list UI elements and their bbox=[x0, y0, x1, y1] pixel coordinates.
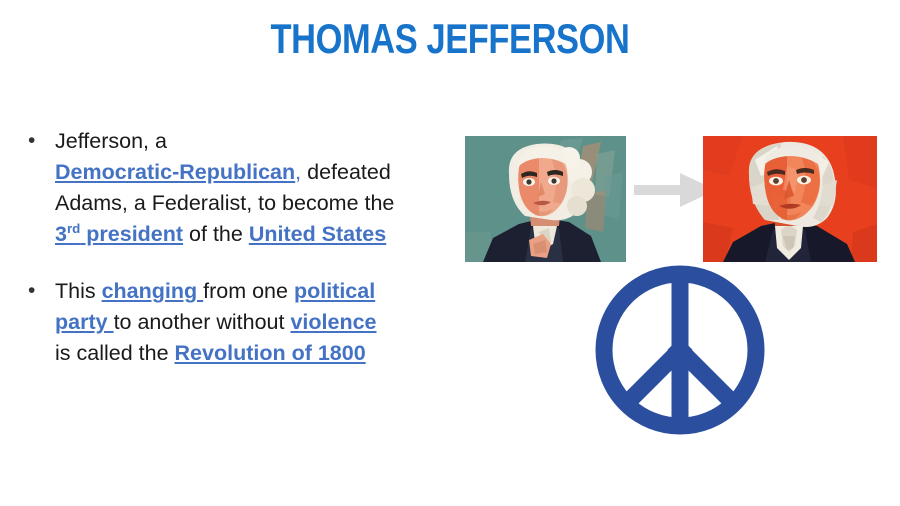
text-fragment: from one bbox=[203, 279, 294, 303]
list-item: • Jefferson, a Democratic-Republican, de… bbox=[22, 126, 452, 250]
ordinal-number: 3 bbox=[55, 222, 67, 246]
portrait-thomas-jefferson-artwork bbox=[703, 136, 877, 262]
page-title: Thomas Jefferson bbox=[81, 14, 819, 64]
text-fragment: This bbox=[55, 279, 102, 303]
text-fragment: president bbox=[80, 222, 183, 246]
presentation-slide: Thomas Jefferson • Jefferson, a Democrat… bbox=[0, 0, 900, 506]
term-revolution-of-1800: Revolution of 1800 bbox=[175, 341, 366, 365]
list-item-text: Jefferson, a Democratic-Republican, defe… bbox=[55, 126, 452, 250]
text-fragment: Jefferson, a bbox=[55, 129, 167, 153]
term-third-president: 3rd president bbox=[55, 222, 183, 246]
term-changing: changing bbox=[102, 279, 204, 303]
bullet-list: • Jefferson, a Democratic-Republican, de… bbox=[22, 126, 452, 369]
term-united-states: United States bbox=[249, 222, 386, 246]
list-item: • This changing from one political party… bbox=[22, 276, 452, 369]
media-group bbox=[460, 130, 890, 450]
term-violence: violence bbox=[290, 310, 376, 334]
text-fragment: of the bbox=[183, 222, 249, 246]
term-democratic-republican: Democratic-Republican bbox=[55, 160, 295, 184]
term-party: party bbox=[55, 310, 114, 334]
text-fragment: Adams, a Federalist, to become the bbox=[55, 191, 394, 215]
term-political: political bbox=[294, 279, 375, 303]
text-fragment: is called the bbox=[55, 341, 175, 365]
portrait-john-adams-artwork bbox=[465, 136, 626, 262]
bullet-marker-icon: • bbox=[22, 126, 55, 156]
portrait-thomas-jefferson bbox=[703, 136, 877, 262]
portrait-john-adams bbox=[465, 136, 626, 262]
ordinal-suffix: rd bbox=[67, 221, 80, 236]
peace-symbol-shape bbox=[593, 263, 767, 437]
bullet-marker-icon: • bbox=[22, 276, 55, 306]
peace-symbol-icon bbox=[593, 263, 767, 437]
text-fragment: to another without bbox=[114, 310, 291, 334]
list-item-text: This changing from one political party t… bbox=[55, 276, 452, 369]
text-fragment: defeated bbox=[301, 160, 391, 184]
